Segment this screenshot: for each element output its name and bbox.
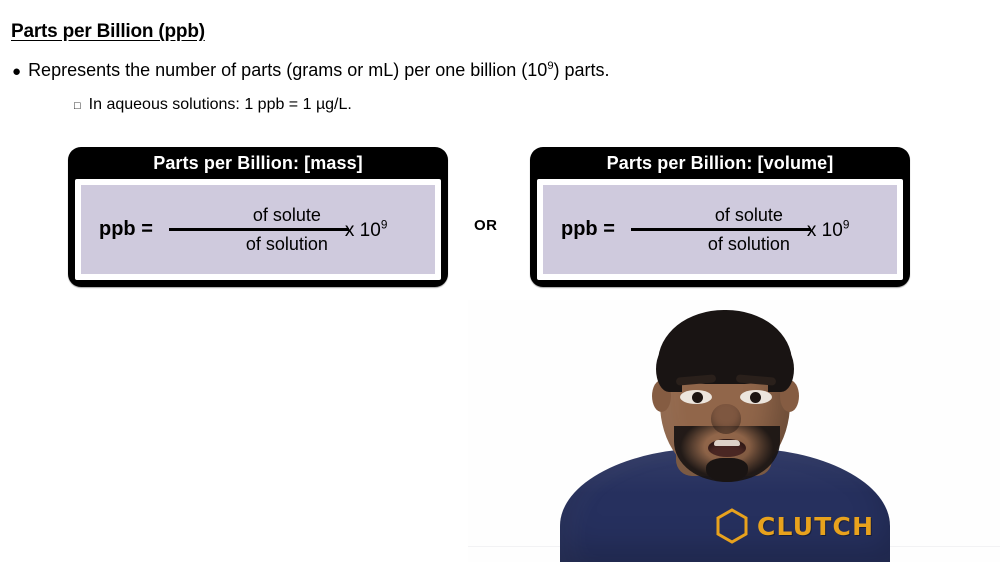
formula-mass-denominator: of solution xyxy=(186,233,332,255)
formula-card-volume: Parts per Billion: [volume] ppb = of sol… xyxy=(530,147,910,287)
formula-volume-numerator: of solute xyxy=(655,204,787,226)
instructor-teeth xyxy=(714,440,740,446)
formula-panel-volume: ppb = of solute of solution x 109 xyxy=(543,185,897,274)
formula-card-volume-header: Parts per Billion: [volume] xyxy=(530,147,910,179)
bullet-square-icon: □ xyxy=(74,101,81,112)
formula-mass-fraction-bar xyxy=(169,228,349,231)
formula-volume-fraction: of solute of solution xyxy=(631,204,811,255)
instructor-pupil-left xyxy=(692,392,703,403)
hexagon-icon xyxy=(716,508,748,544)
formula-mass-numerator: of solute xyxy=(193,204,325,226)
or-connector-label: OR xyxy=(474,217,497,234)
clutch-logo: CLUTCH xyxy=(716,508,874,544)
bullet-primary-text: Represents the number of parts (grams or… xyxy=(28,60,609,81)
formula-mass-fraction: of solute of solution xyxy=(169,204,349,255)
formula-card-mass-header: Parts per Billion: [mass] xyxy=(68,147,448,179)
bullet-primary-text-part1: Represents the number of parts (grams or… xyxy=(28,60,547,80)
bullet-secondary-text: In aqueous solutions: 1 ppb = 1 µg/L. xyxy=(89,96,352,114)
bullet-dot-icon: ● xyxy=(12,64,21,79)
page-title: Parts per Billion (ppb) xyxy=(11,21,205,43)
formula-mass-multiplier: x 109 xyxy=(345,218,387,242)
instructor-pupil-right xyxy=(750,392,761,403)
formula-volume-denominator: of solution xyxy=(648,233,794,255)
instructor-video-overlay[interactable]: CLUTCH xyxy=(468,300,1000,562)
formula-volume-lhs: ppb = xyxy=(561,218,615,241)
clutch-logo-text: CLUTCH xyxy=(757,512,874,541)
instructor-goatee xyxy=(706,458,748,482)
formula-volume-multiplier-exponent: 9 xyxy=(843,218,850,231)
formula-mass-lhs: ppb = xyxy=(99,218,153,241)
formula-panel-mass: ppb = of solute of solution x 109 xyxy=(81,185,435,274)
formula-card-mass-body: ppb = of solute of solution x 109 xyxy=(75,179,441,280)
formula-card-volume-body: ppb = of solute of solution x 109 xyxy=(537,179,903,280)
formula-card-mass: Parts per Billion: [mass] ppb = of solut… xyxy=(68,147,448,287)
formula-mass-multiplier-base: x 10 xyxy=(345,220,381,241)
bullet-primary: ● Represents the number of parts (grams … xyxy=(12,60,610,81)
formula-volume-multiplier-base: x 10 xyxy=(807,220,843,241)
formula-volume-multiplier: x 109 xyxy=(807,218,849,242)
formula-volume-fraction-bar xyxy=(631,228,811,231)
bullet-primary-text-part2: ) parts. xyxy=(554,60,610,80)
bullet-secondary: □ In aqueous solutions: 1 ppb = 1 µg/L. xyxy=(74,96,352,114)
formula-mass-multiplier-exponent: 9 xyxy=(381,218,388,231)
